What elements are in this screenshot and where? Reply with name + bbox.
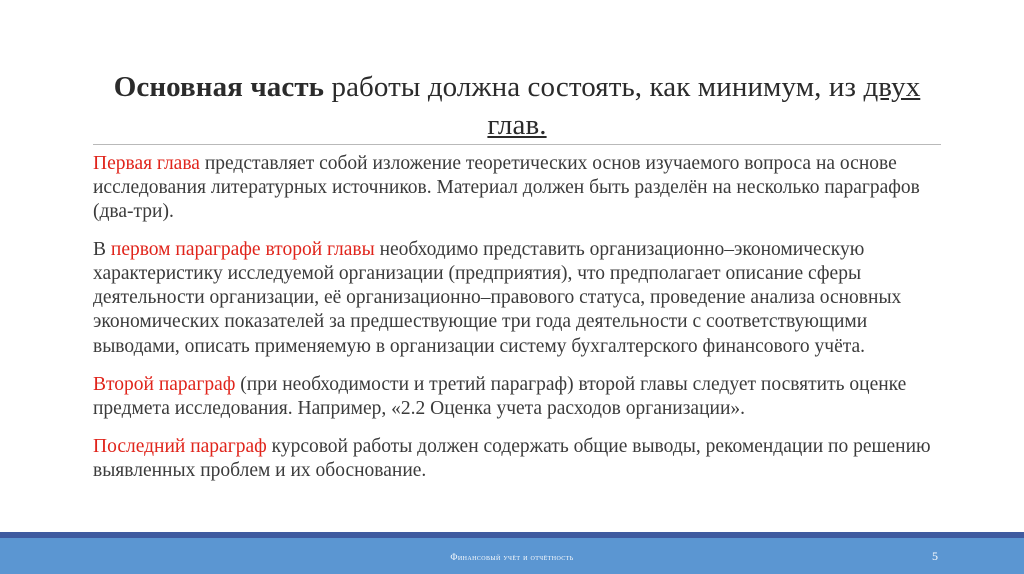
paragraph-accent-label: Последний параграф: [93, 436, 267, 457]
page-title-line2-prefix: из: [829, 71, 864, 103]
page-title-rest: работы должна состоять, как минимум,: [324, 71, 821, 103]
paragraph-first-section-second-chapter: В первом параграфе второй главы необходи…: [93, 238, 943, 358]
footer-page-number: 5: [932, 549, 938, 564]
paragraph-prefix: В: [93, 239, 111, 260]
paragraph-first-chapter: Первая глава представляет собой изложени…: [93, 152, 943, 224]
page-title-strong: Основная часть: [114, 71, 324, 103]
slide-body: Первая глава представляет собой изложени…: [93, 152, 943, 483]
page-title: Основная часть работы должна состоять, к…: [93, 69, 941, 143]
paragraph-accent-label: Второй параграф: [93, 374, 235, 395]
title-divider: [93, 144, 941, 145]
footer-title: Финансовый учёт и отчётность: [0, 552, 1024, 562]
paragraph-second-section: Второй параграф (при необходимости и тре…: [93, 373, 943, 421]
paragraph-last-section: Последний параграф курсовой работы долже…: [93, 435, 943, 483]
paragraph-text: представляет собой изложение теоретическ…: [93, 153, 920, 222]
paragraph-accent-label: Первая глава: [93, 153, 200, 174]
paragraph-accent-label: первом параграфе второй главы: [111, 239, 375, 260]
slide-footer: Финансовый учёт и отчётность 5: [0, 532, 1024, 574]
